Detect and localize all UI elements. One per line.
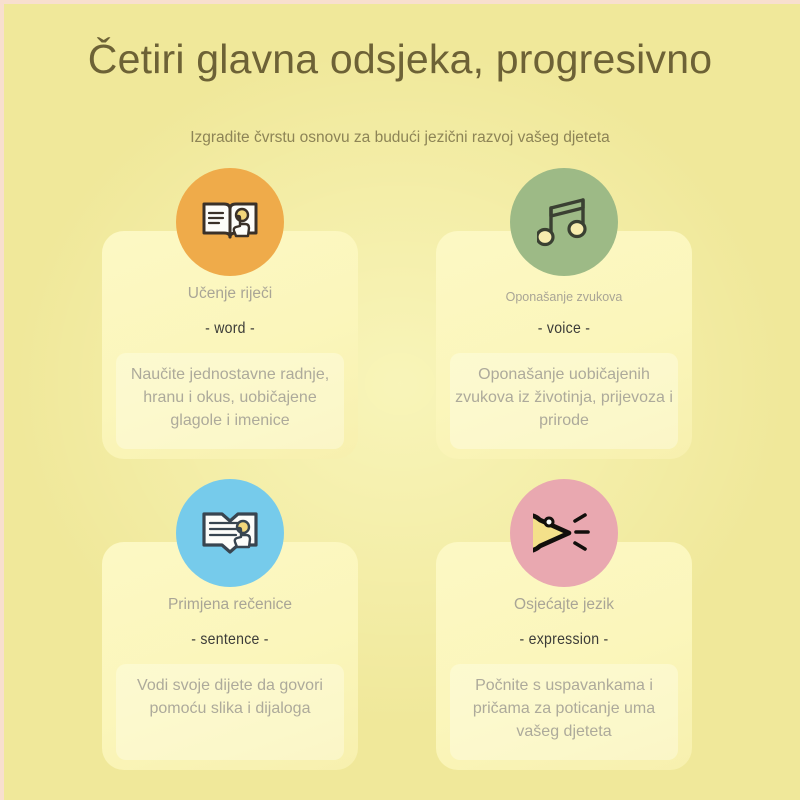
poster-canvas: Četiri glavna odsjeka, progresivno Izgra… [0,0,800,800]
card-description: Vodi svoje dijete da govori pomoću slika… [118,674,342,720]
open-book-touch-icon [176,168,284,276]
card-title: Oponašanje zvukova [446,287,682,307]
card-title: Primjena rečenice [112,595,348,615]
card-description: Oponašanje uobičajenih zvukova iz životi… [452,363,676,432]
music-notes-icon [510,168,618,276]
sentence-card-touch-icon [176,479,284,587]
feature-card[interactable]: Osjećajte jezik - expression - Počnite s… [436,542,692,770]
speaking-mouth-icon [510,479,618,587]
card-key-label: - word - [126,319,334,339]
card-title: Učenje riječi [112,284,348,304]
card-title: Osjećajte jezik [446,595,682,615]
feature-card[interactable]: Oponašanje zvukova - voice - Oponašanje … [436,231,692,459]
card-key-label: - expression - [460,630,668,650]
card-description: Počnite s uspavankama i pričama za potic… [452,674,676,743]
feature-card-grid: Učenje riječi - word - Naučite jednostav… [0,0,800,800]
card-key-label: - voice - [460,319,668,339]
card-key-label: - sentence - [126,630,334,650]
card-description: Naučite jednostavne radnje, hranu i okus… [118,363,342,432]
feature-card[interactable]: Primjena rečenice - sentence - Vodi svoj… [102,542,358,770]
feature-card[interactable]: Učenje riječi - word - Naučite jednostav… [102,231,358,459]
